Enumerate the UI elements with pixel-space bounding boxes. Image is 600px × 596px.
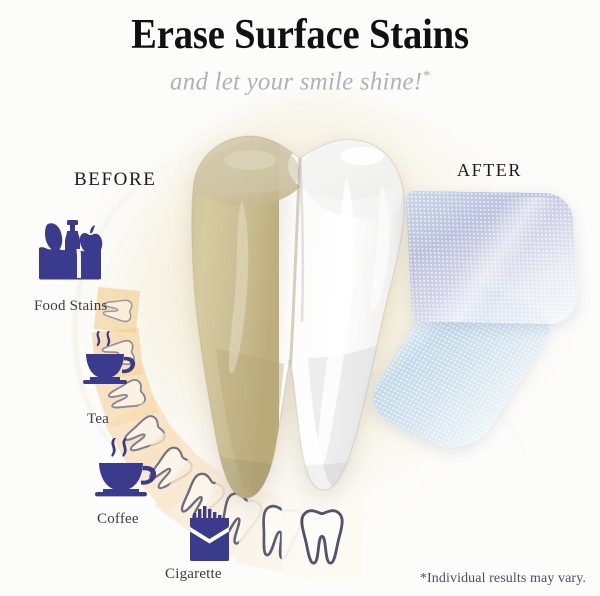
shade-guide-tile <box>280 496 364 580</box>
stain-cause-tea-label: Tea <box>87 411 109 428</box>
subtitle-text: and let your smile shine! <box>170 68 422 95</box>
stain-cause-cigarette <box>181 505 239 563</box>
page-title: Erase Surface Stains <box>24 11 576 59</box>
stain-cause-tea <box>78 330 140 392</box>
tea-cup-icon <box>78 330 140 392</box>
stain-cause-food-label: Food Stains <box>34 298 107 315</box>
stain-cause-cigarette-label: Cigarette <box>165 566 222 583</box>
stain-cause-coffee <box>92 437 160 503</box>
footnote: *Individual results may vary. <box>420 571 586 587</box>
coffee-cup-icon <box>92 437 160 503</box>
whitening-strip-upper-icon <box>405 191 578 325</box>
page-subtitle: and let your smile shine!* <box>0 68 600 96</box>
tooth-illustration <box>150 108 436 506</box>
whitening-poster: Erase Surface Stains and let your smile … <box>0 0 600 596</box>
after-label: AFTER <box>457 160 522 181</box>
before-label: BEFORE <box>74 169 156 191</box>
grocery-bag-icon <box>36 218 104 280</box>
stain-cause-coffee-label: Coffee <box>97 511 139 528</box>
cigarette-pack-icon <box>181 505 239 563</box>
subtitle-asterisk: * <box>422 68 430 84</box>
stain-cause-food <box>36 218 104 280</box>
